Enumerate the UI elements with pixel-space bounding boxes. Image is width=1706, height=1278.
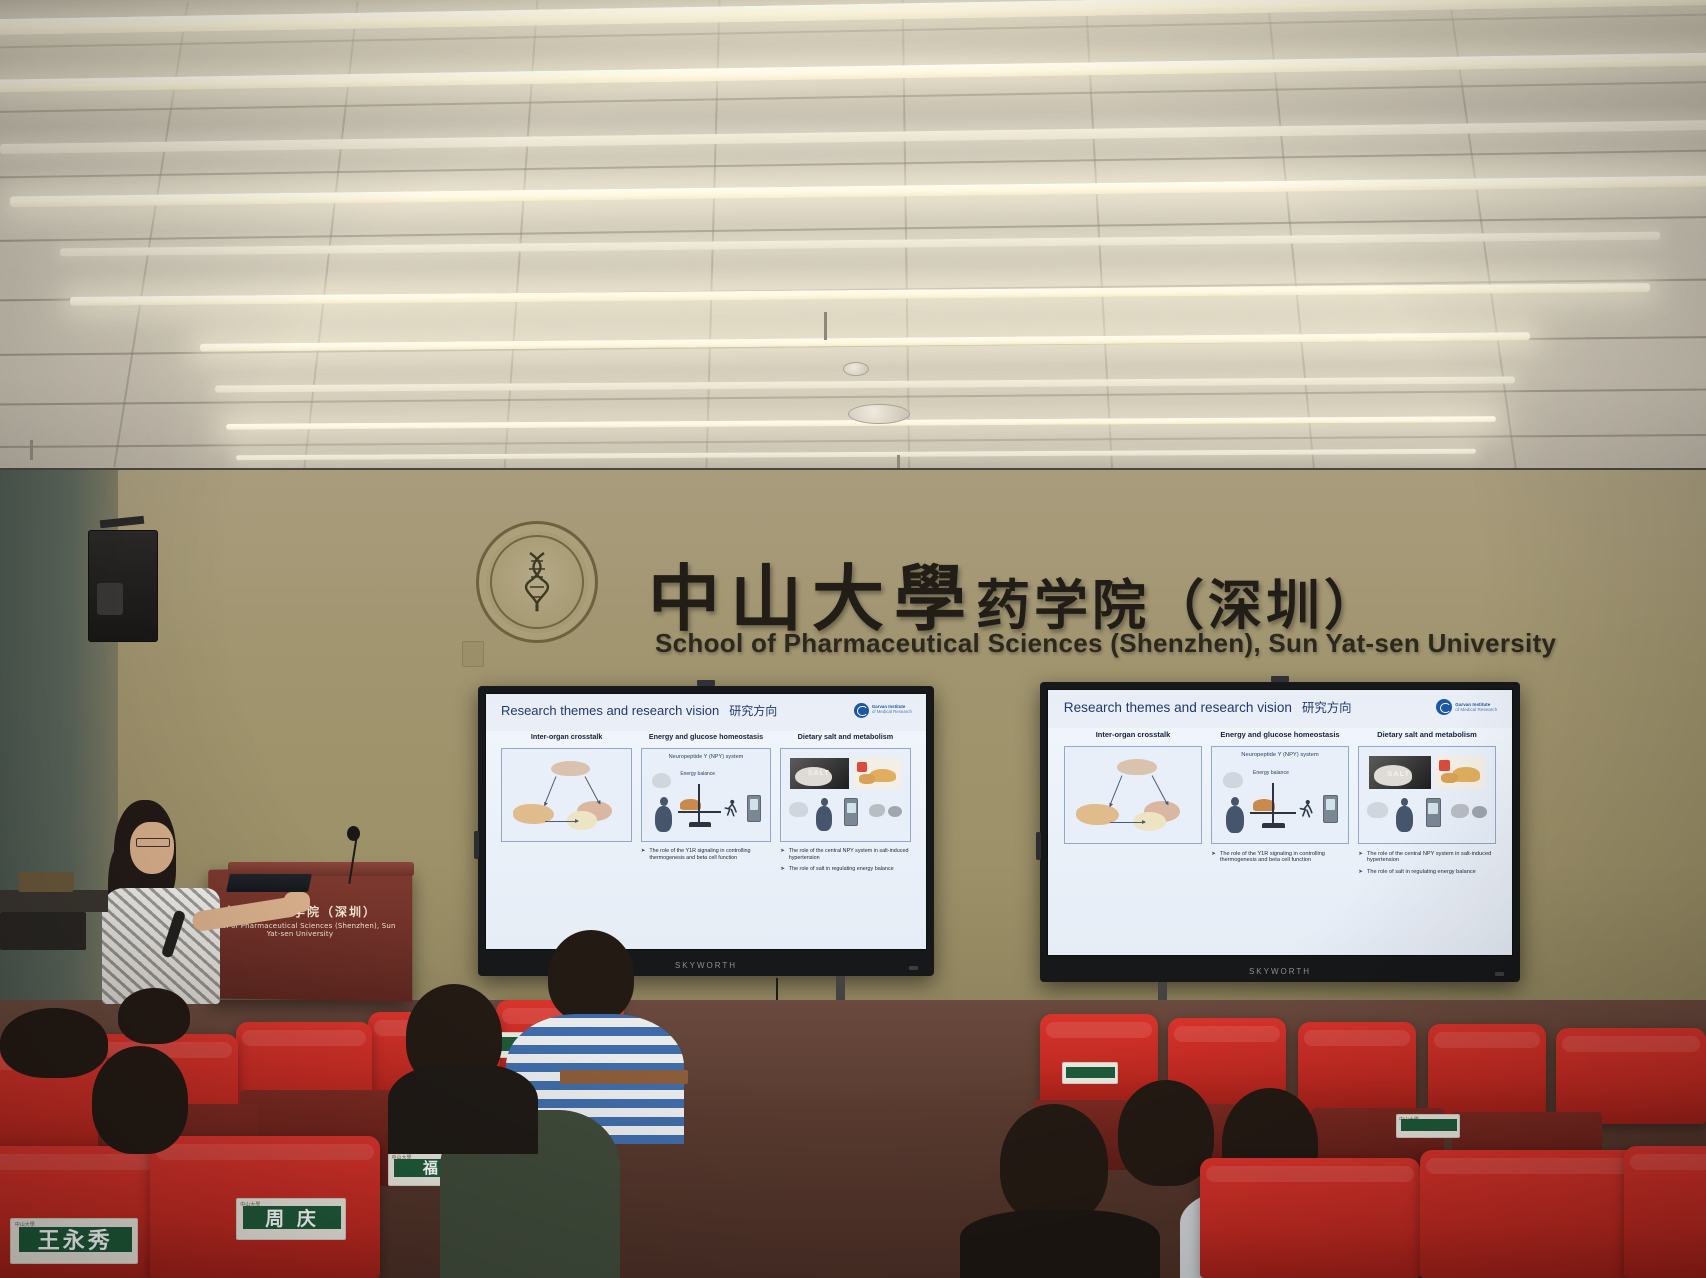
ceiling-fixture-stem <box>30 440 33 460</box>
nameplate-name: 王永秀 <box>38 1223 113 1255</box>
display-right[interactable]: Research themes and research vision研究方向 … <box>1040 682 1520 982</box>
audience-shoulder <box>388 1064 538 1154</box>
inter-organ-diagram <box>1064 746 1202 844</box>
person-icon <box>655 797 673 832</box>
audience-head <box>92 1046 188 1154</box>
dna-helix-icon <box>522 551 552 613</box>
crosstalk-arrow <box>584 777 599 805</box>
garvan-logo: Garvan Institute of Medical Research <box>854 703 912 718</box>
nameplate-name: 福 <box>423 1157 441 1178</box>
panel-label: Neuropeptide Y (NPY) system <box>642 754 770 760</box>
audience-head <box>118 988 190 1044</box>
bullet-arrow-icon: ➤ <box>1211 851 1216 865</box>
kidney-icon <box>1451 804 1469 817</box>
brain-icon <box>1223 772 1243 788</box>
ceiling-speaker-icon <box>848 404 910 424</box>
column-heading: Dietary salt and metabolism <box>1358 730 1496 739</box>
presenter-hand <box>284 892 310 912</box>
vessel-icon <box>888 806 902 817</box>
display-left[interactable]: Research themes and research vision研究方向 … <box>478 686 934 976</box>
wall-sign-english: School of Pharmaceutical Sciences (Shenz… <box>655 628 1556 659</box>
glucose-meter-icon <box>747 795 761 823</box>
crosstalk-arrow <box>1110 822 1145 823</box>
glucose-meter-icon <box>1323 795 1338 824</box>
display-top-sensor <box>697 680 715 686</box>
speaker-grille-icon <box>97 583 123 615</box>
food-photo <box>853 758 901 789</box>
slide-column-inter-organ: Inter-organ crosstalk <box>501 732 631 941</box>
slide-title: Research themes and research vision研究方向 <box>501 702 777 719</box>
bullet-item: ➤ The role of salt in regulating energy … <box>1358 869 1496 876</box>
bullet-item: ➤ The role of the central NPY system in … <box>780 848 910 862</box>
seat-nameplate: 中山大學 王永秀 <box>10 1218 138 1264</box>
inter-organ-diagram <box>501 748 631 842</box>
slide-column-energy: Energy and glucose homeostasis Neuropept… <box>1211 730 1349 947</box>
column-bullets: ➤ The role of the central NPY system in … <box>1358 851 1496 880</box>
lectern-laptop <box>226 874 312 892</box>
display-left-screen: Research themes and research vision研究方向 … <box>485 693 927 950</box>
side-equipment <box>18 872 74 892</box>
bullet-item: ➤ The role of the Y1R signaling in contr… <box>641 848 771 862</box>
glucose-meter-icon <box>1426 798 1441 827</box>
side-monitor <box>0 912 86 950</box>
display-right-screen: Research themes and research vision研究方向 … <box>1047 689 1513 956</box>
ceiling-light <box>0 120 1706 154</box>
brain-icon <box>652 773 671 789</box>
scale-pole <box>1272 783 1274 823</box>
energy-balance-label: Energy balance <box>680 771 715 777</box>
garvan-logo-text: Garvan Institute of Medical Research <box>872 705 912 715</box>
bullet-item: ➤ The role of salt in regulating energy … <box>780 866 910 873</box>
slide-columns: Inter-organ crosstalk Energy and g <box>1064 730 1496 947</box>
person-icon <box>1226 797 1245 833</box>
panel-label: Neuropeptide Y (NPY) system <box>1212 752 1348 758</box>
garvan-mark-icon <box>1436 699 1452 715</box>
slide-column-salt: Dietary salt and metabolism SALT <box>1358 730 1496 947</box>
ceiling-light <box>215 376 1515 392</box>
presenter-face <box>130 822 174 874</box>
seat <box>1420 1150 1640 1278</box>
salt-photo: SALT <box>790 758 849 789</box>
smoke-detector-icon <box>843 362 869 376</box>
audience-head <box>1000 1104 1108 1224</box>
display-power-indicator <box>1495 972 1504 976</box>
npy-system-diagram: Neuropeptide Y (NPY) system Energy balan… <box>641 748 771 842</box>
audience-shoulder <box>960 1210 1160 1278</box>
bullet-arrow-icon: ➤ <box>780 848 785 862</box>
seat <box>1556 1028 1706 1124</box>
energy-balance-label: Energy balance <box>1253 770 1289 776</box>
crosstalk-arrow <box>1109 776 1122 807</box>
crosstalk-arrow <box>545 821 578 822</box>
seat-nameplate <box>1062 1062 1118 1084</box>
salt-photo: SALT <box>1369 756 1431 789</box>
scale-foot <box>689 822 711 827</box>
runner-icon <box>1298 795 1314 824</box>
ceiling <box>0 0 1706 500</box>
column-bullets: ➤ The role of the central NPY system in … <box>780 848 910 876</box>
column-heading: Inter-organ crosstalk <box>1064 730 1202 739</box>
nameplate-name: 周 庆 <box>265 1204 319 1231</box>
salt-metabolism-diagram: SALT <box>780 748 910 842</box>
seat <box>1298 1022 1416 1114</box>
kidney-icon <box>869 804 886 817</box>
bullet-arrow-icon: ➤ <box>1358 851 1363 865</box>
npy-system-diagram: Neuropeptide Y (NPY) system Energy balan… <box>1211 746 1349 844</box>
runner-icon <box>723 795 738 823</box>
slide-left: Research themes and research vision研究方向 … <box>486 694 926 949</box>
ceiling-fixture-stem <box>824 312 827 340</box>
bullet-arrow-icon: ➤ <box>641 848 646 862</box>
slide-title-cn: 研究方向 <box>729 704 777 718</box>
seat <box>1428 1024 1546 1118</box>
university-emblem <box>476 521 598 643</box>
display-brand: SKYWORTH <box>1249 967 1311 976</box>
person-icon <box>816 798 833 831</box>
salt-metabolism-diagram: SALT <box>1358 746 1496 844</box>
salt-label: SALT <box>1387 769 1410 778</box>
display-top-sensor <box>1271 676 1289 682</box>
slide-right: Research themes and research vision研究方向 … <box>1048 690 1512 955</box>
bullet-item: ➤ The role of the Y1R signaling in contr… <box>1211 851 1349 865</box>
brain-icon <box>789 802 808 817</box>
presenter-torso <box>102 888 220 1004</box>
scale-foot <box>1262 823 1285 828</box>
audience-head <box>0 1008 108 1078</box>
ceiling-light <box>236 449 1476 460</box>
garvan-logo-text: Garvan Institute of Medical Research <box>1455 702 1497 712</box>
display-side-cap <box>474 831 479 859</box>
column-bullets: ➤ The role of the Y1R signaling in contr… <box>641 848 771 865</box>
wall-vent <box>462 641 484 667</box>
bullet-arrow-icon: ➤ <box>1358 869 1363 876</box>
person-icon <box>1396 798 1414 833</box>
slide-column-inter-organ: Inter-organ crosstalk <box>1064 730 1202 947</box>
column-heading: Inter-organ crosstalk <box>501 732 631 741</box>
bullet-item: ➤ The role of the central NPY system in … <box>1358 851 1496 865</box>
display-brand: SKYWORTH <box>675 961 737 970</box>
glucose-meter-icon <box>844 798 858 826</box>
slide-title: Research themes and research vision研究方向 <box>1064 698 1352 716</box>
side-table <box>0 890 108 912</box>
brain-blob-icon <box>1117 759 1158 775</box>
slide-column-salt: Dietary salt and metabolism SALT <box>780 732 910 941</box>
scale-pole <box>698 784 700 823</box>
brain-icon <box>1367 802 1387 817</box>
microphone-head-icon <box>347 826 360 841</box>
column-bullets: ➤ The role of the Y1R signaling in contr… <box>1211 851 1349 869</box>
aisle-table <box>560 1070 688 1084</box>
column-heading: Energy and glucose homeostasis <box>1211 730 1349 739</box>
seat-nameplate: 中山大學 <box>1396 1114 1460 1138</box>
salt-label: SALT <box>808 770 830 777</box>
slide-columns: Inter-organ crosstalk E <box>501 732 910 941</box>
brain-blob-icon <box>551 761 590 777</box>
seat <box>1624 1146 1706 1278</box>
ceiling-light <box>70 283 1650 306</box>
garvan-mark-icon <box>854 703 869 718</box>
column-heading: Dietary salt and metabolism <box>780 732 910 741</box>
display-power-indicator <box>909 966 918 970</box>
seat-nameplate: 中山大學 周 庆 <box>236 1198 346 1240</box>
food-photo <box>1435 756 1485 789</box>
audience-head <box>548 930 634 1022</box>
wall-speaker <box>88 530 158 642</box>
glasses-icon <box>136 838 170 847</box>
seat <box>1200 1158 1420 1278</box>
crosstalk-arrow <box>544 777 556 806</box>
presenter <box>96 800 236 1000</box>
slide-title-cn: 研究方向 <box>1302 700 1352 715</box>
slide-column-energy: Energy and glucose homeostasis Neuropept… <box>641 732 771 941</box>
bullet-arrow-icon: ➤ <box>780 866 785 873</box>
column-heading: Energy and glucose homeostasis <box>641 732 771 741</box>
ceiling-light <box>10 176 1706 208</box>
lecture-hall-photo: 中山大學药学院（深圳） School of Pharmaceutical Sci… <box>0 0 1706 1278</box>
display-side-cap <box>1036 832 1041 860</box>
garvan-logo: Garvan Institute of Medical Research <box>1436 699 1497 715</box>
vessel-icon <box>1472 806 1487 818</box>
